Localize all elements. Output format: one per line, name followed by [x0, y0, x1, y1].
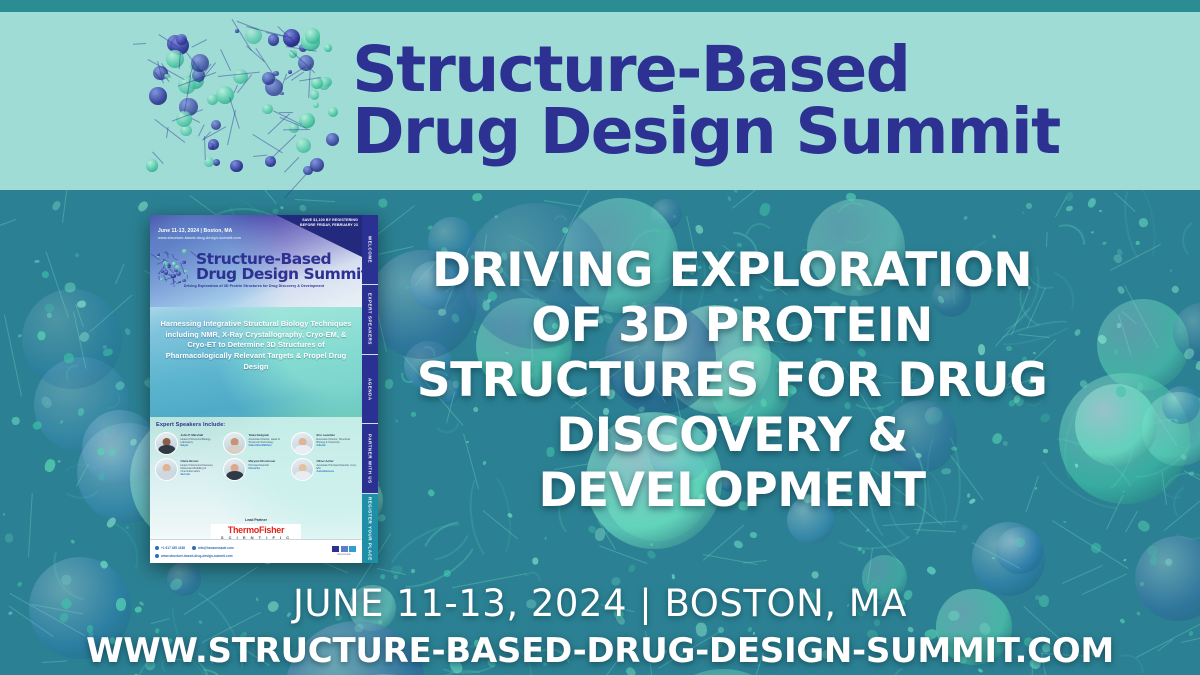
molecule-atom [157, 253, 160, 256]
molecule-bond-line [172, 254, 174, 258]
molecule-bond-line [252, 134, 282, 154]
speaker-card: Maryam KhoshoueiPrincipal ScientistNovar… [223, 458, 289, 481]
molecule-speck [532, 557, 538, 564]
molecule-speck [136, 199, 149, 213]
wordmark-line-2: Drug Design Summit [352, 101, 1059, 163]
molecule-bond-line [192, 118, 200, 123]
speaker-org: GlaxoSmithKline [249, 444, 290, 448]
molecule-speck [1171, 284, 1181, 294]
avatar-body [294, 471, 311, 481]
brochure-theme-text: Harnessing Integrative Structural Biolog… [156, 319, 356, 373]
brochure-tab-label: WELCOME [368, 236, 373, 263]
molecule-speck [124, 327, 132, 335]
headline-line-2: OF 3D PROTEIN [412, 298, 1052, 353]
speaker-meta: Eric LewellenExecutive Director, Structu… [317, 432, 358, 448]
molecule-speck [1014, 538, 1025, 548]
speaker-org: Servier [181, 473, 222, 477]
main-headline: DRIVING EXPLORATIONOF 3D PROTEINSTRUCTUR… [412, 243, 1052, 518]
flag-block-2 [341, 546, 348, 552]
speaker-org: Novartis [249, 467, 276, 471]
molecule-bond-line [1052, 520, 1129, 569]
speaker-meta: Oliver AcherAssociate Principal Scientis… [317, 458, 358, 474]
lead-partner-name: ThermoFisher [221, 526, 291, 535]
molecule-bond-line [180, 262, 185, 273]
molecule-speck [299, 204, 308, 213]
brochure-wordmark: Structure-Based Drug Design Summit [196, 252, 362, 283]
molecule-speck [75, 253, 81, 259]
contact-phone-text: +1 617 455 4188 [161, 546, 185, 550]
molecule-bond-line [198, 124, 204, 136]
molecule-speck [385, 378, 395, 389]
molecule-speck [695, 224, 705, 235]
molecule-speck [272, 208, 278, 214]
speaker-org: AstraZeneca [317, 470, 358, 474]
avatar-body [226, 445, 243, 455]
molecule-atom [182, 279, 186, 283]
molecule-speck [733, 539, 744, 549]
molecule-speck [279, 206, 284, 211]
molecule-atom [313, 102, 319, 108]
molecule-speck [1101, 242, 1106, 246]
molecule-speck [377, 514, 386, 523]
wordmark-line-1: Structure-Based [352, 39, 1059, 101]
speaker-avatar [223, 458, 246, 481]
speaker-avatar [291, 458, 314, 481]
molecule-speck [628, 563, 637, 573]
avatar-body [158, 445, 175, 455]
avatar-body [226, 471, 243, 481]
avatar-body [158, 471, 175, 481]
molecule-speck [750, 531, 758, 537]
molecule-atom [182, 249, 187, 254]
contact-phone: +1 617 455 4188 info@hansonwade.com [155, 546, 234, 550]
molecule-atom [160, 278, 163, 281]
molecule-bond-line [295, 199, 335, 202]
brochure-tab-agenda[interactable]: AGENDA [362, 355, 378, 425]
molecule-bond-line [702, 554, 757, 565]
brochure-tab-label: EXPERT SPEAKERS [368, 293, 373, 345]
speaker-avatar [223, 432, 246, 455]
brochure-tab-label: REGISTER YOUR PLACE [368, 497, 373, 561]
speaker-avatar [155, 458, 178, 481]
protein-molecule-icon [140, 26, 340, 176]
brochure-tab-register-your-place[interactable]: REGISTER YOUR PLACE [362, 494, 378, 563]
molecule-speck [378, 199, 388, 209]
brochure-wordmark-line-2: Drug Design Summit [196, 267, 362, 283]
molecule-speck [926, 565, 937, 575]
molecule-speck [1091, 231, 1094, 234]
speaker-card: Claire BrownHead of Structural Sciences,… [155, 458, 221, 481]
brochure-url: www.structure-based-drug-design-summit.c… [158, 236, 241, 240]
molecule-bond-line [284, 157, 299, 173]
header-band: Structure-Based Drug Design Summit [0, 12, 1200, 190]
publisher-logo: hansonwade [332, 546, 356, 556]
molecule-speck [1063, 521, 1066, 523]
speaker-meta: Claire BrownHead of Structural Sciences,… [181, 458, 222, 477]
molecule-atom [305, 28, 321, 44]
molecule-speck [1195, 360, 1200, 371]
speaker-meta: Tania DedgrainAssociate Director, Head o… [249, 432, 290, 448]
brochure-speaker-grid: John P. MarshallHead of Structural Biolo… [155, 432, 357, 481]
molecule-speck [50, 199, 62, 212]
molecule-speck [3, 512, 6, 515]
molecule-speck [544, 537, 547, 540]
speaker-card: John P. MarshallHead of Structural Biolo… [155, 432, 221, 455]
molecule-atom [326, 133, 339, 146]
molecule-speck [963, 216, 968, 221]
molecule-bond-line [4, 315, 22, 396]
molecule-speck [41, 270, 49, 278]
speaker-meta: John P. MarshallHead of Structural Biolo… [181, 432, 222, 448]
molecule-bond-line [165, 268, 166, 271]
molecule-bond-line [599, 545, 648, 564]
speaker-card: Oliver AcherAssociate Principal Scientis… [291, 458, 357, 481]
molecule-bond-line [1125, 511, 1138, 532]
avatar-body [294, 445, 311, 455]
molecule-atom [208, 143, 215, 150]
event-wordmark: Structure-Based Drug Design Summit [352, 39, 1059, 162]
brochure-page: Save $1,100 by registering before Friday… [150, 215, 362, 563]
brochure-speakers-title: Expert Speakers Include: [156, 422, 225, 428]
contact-web: www.structure-based-drug-design-summit.c… [155, 554, 233, 558]
molecule-speck [727, 196, 731, 201]
brochure-tab-expert-speakers[interactable]: EXPERT SPEAKERS [362, 285, 378, 355]
molecule-atom [328, 107, 338, 117]
event-poster: Structure-Based Drug Design Summit Save … [0, 0, 1200, 675]
molecule-atom [230, 160, 243, 173]
brochure-tab-label: PARTNER WITH US [368, 434, 373, 484]
event-date-location: JUNE 11-13, 2024 | BOSTON, MA [0, 582, 1200, 625]
molecule-atom [280, 92, 283, 95]
molecule-atom [176, 271, 181, 276]
brochure-cover[interactable]: Save $1,100 by registering before Friday… [150, 215, 378, 563]
molecule-atom [166, 50, 185, 69]
brochure-tab-label: AGENDA [368, 378, 373, 401]
molecule-bond-line [183, 261, 186, 262]
molecule-atom [176, 34, 187, 45]
molecule-atom [324, 44, 332, 52]
brochure-tab-partner-with-us[interactable]: PARTNER WITH US [362, 424, 378, 494]
molecule-speck [758, 202, 771, 217]
flag-block-3 [349, 546, 356, 552]
molecule-speck [6, 534, 14, 543]
brochure-header-art: Save $1,100 by registering before Friday… [150, 215, 362, 307]
molecule-speck [405, 285, 409, 289]
molecule-bond-line [283, 129, 310, 130]
molecule-speck [43, 458, 56, 473]
molecule-speck [646, 549, 657, 560]
molecule-atom [310, 158, 324, 172]
headline-line-1: DRIVING EXPLORATION [412, 243, 1052, 298]
speaker-org: Gilead [317, 444, 358, 448]
molecule-speck [1025, 202, 1033, 209]
molecule-bond-line [174, 258, 178, 260]
molecule-bond-line [220, 49, 231, 71]
brochure-theme-band: Harnessing Integrative Structural Biolog… [150, 307, 362, 417]
molecule-speck [1136, 519, 1151, 534]
brochure-section-tabs: WELCOMEEXPERT SPEAKERSAGENDAPARTNER WITH… [362, 215, 378, 563]
headline-line-4: DISCOVERY & [412, 408, 1052, 463]
brochure-speakers-band: Expert Speakers Include: John P. Marshal… [150, 417, 362, 563]
molecule-atom [262, 104, 272, 114]
lead-partner-label: Lead Partner [150, 518, 362, 522]
molecule-speck [1170, 269, 1173, 272]
protein-molecule-icon-small [156, 249, 192, 285]
molecule-speck [1022, 211, 1025, 213]
speaker-avatar [155, 432, 178, 455]
molecule-bond-line [0, 219, 16, 240]
speaker-card: Tania DedgrainAssociate Director, Head o… [223, 432, 289, 455]
publisher-name: hansonwade [337, 553, 351, 556]
flag-block-1 [332, 546, 339, 552]
molecule-bond-line [253, 155, 267, 157]
molecule-atom [296, 138, 311, 153]
molecule-speck [35, 260, 40, 263]
headline-line-3: STRUCTURES FOR DRUG [412, 353, 1052, 408]
molecule-bond-line [133, 43, 146, 45]
brochure-logo-row: Structure-Based Drug Design Summit [156, 249, 356, 285]
molecule-speck [960, 523, 968, 531]
molecule-speck [471, 193, 483, 203]
molecule-speck [811, 571, 819, 580]
email-icon [192, 546, 196, 550]
speaker-meta: Maryam KhoshoueiPrincipal ScientistNovar… [249, 458, 276, 470]
molecule-bond-line [1062, 565, 1103, 584]
molecule-bond-line [191, 39, 206, 47]
speaker-card: Eric LewellenExecutive Director, Structu… [291, 432, 357, 455]
speaker-avatar [291, 432, 314, 455]
event-website[interactable]: WWW.STRUCTURE-BASED-DRUG-DESIGN-SUMMIT.C… [0, 631, 1200, 671]
molecule-speck [395, 419, 399, 423]
molecule-bond-line [189, 195, 215, 215]
phone-icon [155, 546, 159, 550]
brochure-date-location: June 11-13, 2024 | Boston, MA [158, 228, 232, 234]
molecule-atom [149, 87, 167, 105]
molecule-speck [107, 427, 112, 434]
brochure-tab-welcome[interactable]: WELCOME [362, 215, 378, 285]
protein-ribbon [1179, 214, 1200, 269]
molecule-speck [1066, 205, 1074, 212]
molecule-speck [126, 525, 130, 529]
brochure-tagline: Driving Exploration of 3D Protein Struct… [184, 284, 324, 288]
contact-web-text: www.structure-based-drug-design-summit.c… [161, 554, 233, 558]
brochure-early-bird-note: Save $1,100 by registering before Friday… [294, 218, 358, 228]
molecule-speck [1123, 558, 1127, 562]
molecule-atom [268, 34, 280, 46]
molecule-atom [310, 90, 319, 99]
molecule-speck [1087, 197, 1098, 209]
molecule-speck [57, 460, 60, 463]
globe-icon [155, 554, 159, 558]
molecule-speck [671, 574, 675, 579]
molecule-speck [1099, 210, 1102, 212]
contact-email-text: info@hansonwade.com [198, 546, 234, 550]
speaker-org: Bayer [181, 444, 222, 448]
molecule-speck [379, 574, 385, 580]
headline-line-5: DEVELOPMENT [412, 463, 1052, 518]
molecule-bond-line [115, 264, 125, 285]
molecule-speck [11, 417, 20, 426]
molecule-bond-line [281, 74, 287, 89]
molecule-bond-line [28, 493, 33, 557]
molecule-atom [146, 159, 159, 172]
footer-block: JUNE 11-13, 2024 | BOSTON, MA WWW.STRUCT… [0, 582, 1200, 671]
molecule-atom [175, 265, 180, 270]
molecule-bond-line [176, 283, 179, 284]
molecule-bond-line [187, 275, 188, 279]
molecule-speck [1074, 328, 1082, 337]
molecule-speck [861, 549, 865, 554]
brochure-contact-footer: +1 617 455 4188 info@hansonwade.com www.… [150, 539, 362, 563]
top-edge-strip [0, 0, 1200, 12]
